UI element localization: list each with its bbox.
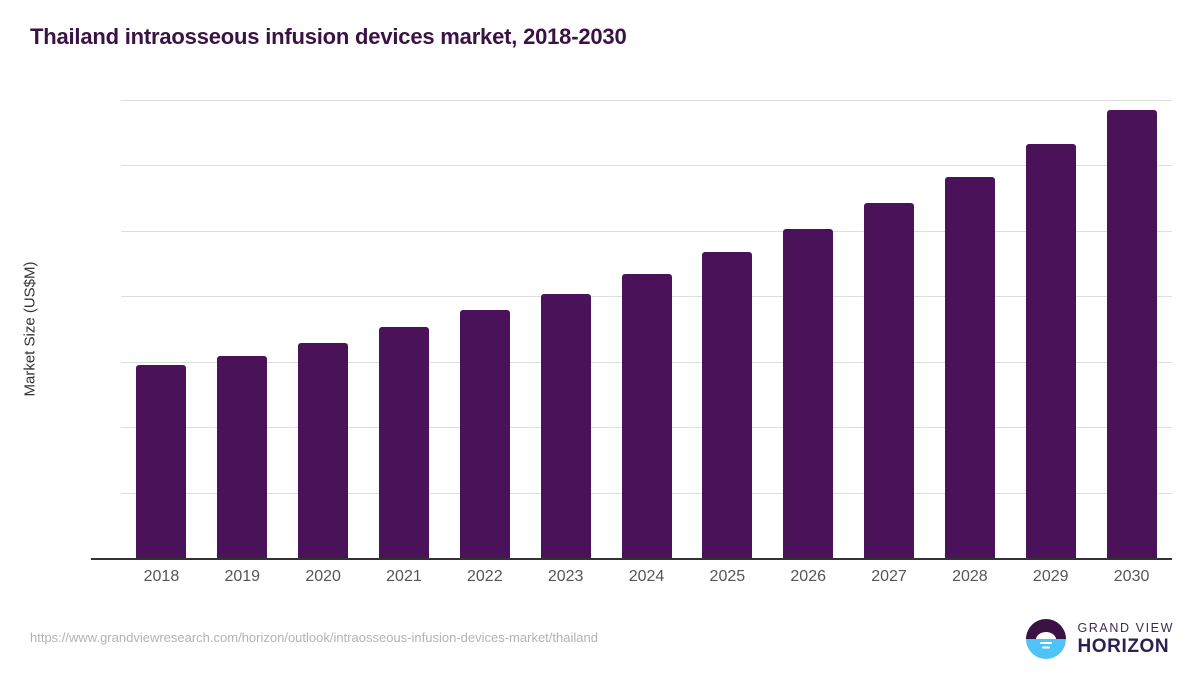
bar[interactable]: [298, 343, 348, 558]
y-axis-title: Market Size (US$M): [22, 261, 39, 396]
x-axis-tick-label: 2018: [121, 568, 201, 586]
bar[interactable]: [783, 229, 833, 558]
gridline: [121, 100, 1172, 101]
bar[interactable]: [136, 365, 186, 558]
x-axis-tick-label: 2025: [687, 568, 767, 586]
bar[interactable]: [864, 203, 914, 558]
horizon-mark-icon: [1024, 617, 1068, 661]
logo-line-grand-view: GRAND VIEW: [1077, 622, 1174, 635]
x-axis-tick-label: 2030: [1092, 568, 1172, 586]
bar[interactable]: [622, 274, 672, 558]
x-axis-tick-label: 2022: [445, 568, 525, 586]
x-axis-tick-label: 2019: [202, 568, 282, 586]
x-axis-tick-label: 2027: [849, 568, 929, 586]
grand-view-horizon-logo[interactable]: GRAND VIEW HORIZON: [1024, 617, 1174, 661]
x-axis-tick-label: 2029: [1011, 568, 1091, 586]
plot-area: 02468101214 2018201920202021202220232024…: [121, 100, 1172, 558]
page-title: Thailand intraosseous infusion devices m…: [30, 24, 627, 50]
bar[interactable]: [460, 310, 510, 558]
x-axis-tick-label: 2020: [283, 568, 363, 586]
x-axis-line: [91, 558, 1172, 560]
x-axis-tick-label: 2028: [930, 568, 1010, 586]
bar[interactable]: [217, 356, 267, 558]
x-axis-tick-label: 2021: [364, 568, 444, 586]
bar[interactable]: [541, 294, 591, 558]
x-axis-tick-label: 2024: [607, 568, 687, 586]
gridline: [121, 231, 1172, 232]
bar[interactable]: [945, 177, 995, 558]
bar[interactable]: [702, 252, 752, 558]
gridline: [121, 165, 1172, 166]
bar[interactable]: [1107, 110, 1157, 558]
bar[interactable]: [379, 327, 429, 558]
bar[interactable]: [1026, 144, 1076, 558]
x-axis-tick-label: 2026: [768, 568, 848, 586]
x-axis-tick-label: 2023: [526, 568, 606, 586]
chart-page: Thailand intraosseous infusion devices m…: [0, 0, 1200, 675]
logo-line-horizon: HORIZON: [1077, 637, 1174, 656]
logo-text: GRAND VIEW HORIZON: [1077, 622, 1174, 657]
source-url[interactable]: https://www.grandviewresearch.com/horizo…: [30, 630, 598, 645]
